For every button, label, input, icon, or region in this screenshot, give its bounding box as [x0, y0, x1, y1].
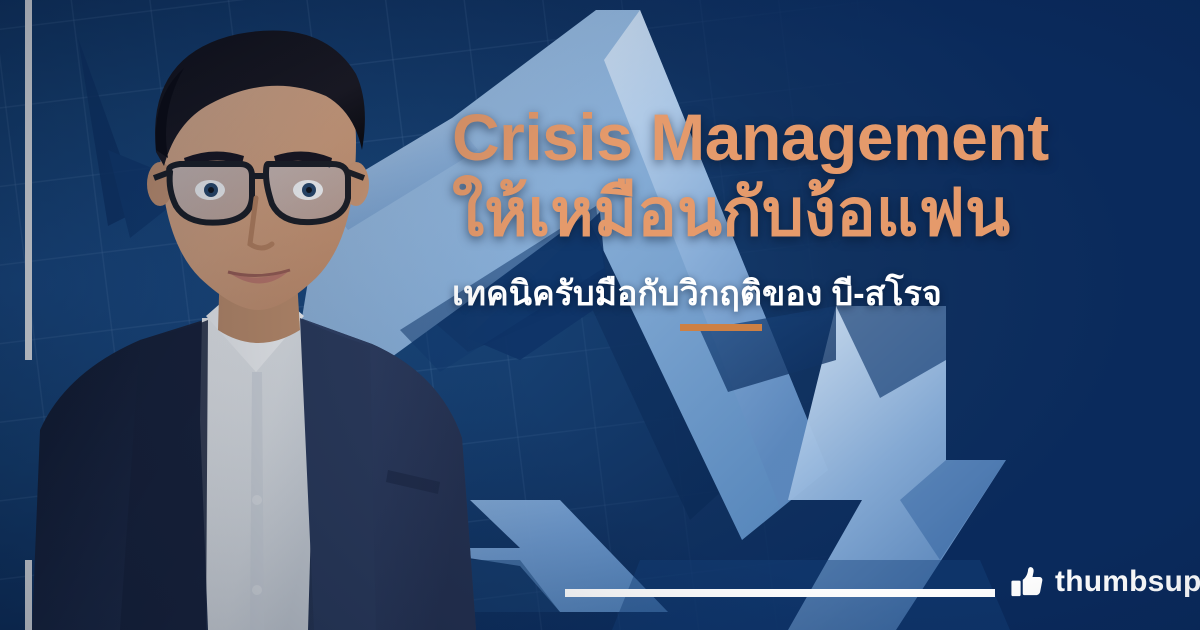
- brand-name: thumbsup: [1055, 567, 1200, 597]
- brand-divider-rule: [565, 589, 995, 597]
- headline-line-1: Crisis Management: [452, 104, 1182, 170]
- brand-lockup: thumbsup: [1010, 565, 1200, 599]
- headline-line-2: ให้เหมือนกับง้อแฟน: [452, 176, 1182, 250]
- subtitle-after: ของ บี-สโรจ: [762, 266, 942, 320]
- presenter-photo: [0, 0, 530, 630]
- subtitle-highlight: วิกฤติ: [680, 266, 762, 322]
- headline-block: Crisis Management ให้เหมือนกับง้อแฟน เทค…: [452, 104, 1182, 322]
- subtitle-before: เทคนิครับมือกับ: [452, 266, 680, 320]
- thumbnail-canvas: Crisis Management ให้เหมือนกับง้อแฟน เทค…: [0, 0, 1200, 630]
- thumbs-up-icon: [1010, 565, 1044, 599]
- subtitle: เทคนิครับมือกับ วิกฤติ ของ บี-สโรจ: [452, 266, 1182, 322]
